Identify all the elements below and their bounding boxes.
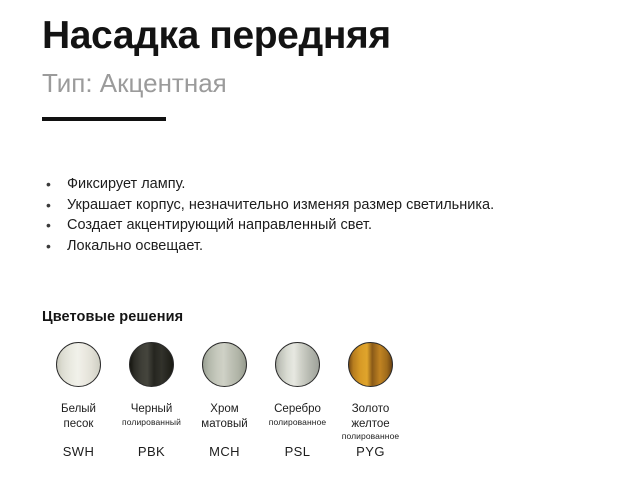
bullet-icon: • (42, 236, 67, 257)
list-item: • Локально освещает. (42, 236, 602, 257)
color-options-heading: Цветовые решения (42, 309, 602, 325)
color-name-modifier: полированное (342, 431, 400, 442)
feature-text: Локально освещает. (67, 236, 602, 257)
color-name-line1: Золото (342, 402, 400, 417)
color-disc-white-sand-icon[interactable] (56, 342, 101, 387)
feature-text: Создает акцентирующий направленный свет. (67, 215, 602, 236)
color-code-cell-psl: PSL (261, 443, 334, 461)
color-label-psl: Серебро полированное (269, 402, 327, 428)
color-name-line1: Серебро (269, 402, 327, 417)
color-label-pyg: Золото желтое полированное (342, 402, 400, 442)
color-swatch-pbk[interactable]: Черный полированный (115, 342, 188, 428)
color-options-section: Цветовые решения Белый песок Черный поли… (42, 309, 602, 442)
feature-text: Фиксирует лампу. (67, 174, 602, 195)
color-label-pbk: Черный полированный (122, 402, 181, 428)
page-title: Насадка передняя (42, 16, 602, 57)
color-code: PBK (138, 444, 165, 459)
color-name-line2: желтое (342, 417, 400, 432)
color-label-mch: Хром матовый (201, 402, 247, 431)
color-name-line2: матовый (201, 417, 247, 432)
color-swatch-psl[interactable]: Серебро полированное (261, 342, 334, 428)
color-code-cell-swh: SWH (42, 443, 115, 461)
list-item: • Фиксирует лампу. (42, 174, 602, 195)
page-subtitle: Тип: Акцентная (42, 69, 602, 98)
color-name-modifier: полированный (122, 417, 181, 428)
color-code: MCH (209, 444, 240, 459)
color-code-row: SWH PBK MCH PSL PYG (42, 443, 602, 461)
color-disc-silver-polished-icon[interactable] (275, 342, 320, 387)
bullet-icon: • (42, 174, 67, 195)
color-name-modifier: полированное (269, 417, 327, 428)
bullet-icon: • (42, 215, 67, 236)
color-swatch-mch[interactable]: Хром матовый (188, 342, 261, 431)
feature-text: Украшает корпус, незначительно изменяя р… (67, 195, 602, 216)
header: Насадка передняя Тип: Акцентная (42, 16, 602, 121)
list-item: • Украшает корпус, незначительно изменяя… (42, 195, 602, 216)
color-name-line1: Хром (201, 402, 247, 417)
color-swatch-row: Белый песок Черный полированный Хром мат… (42, 342, 602, 442)
color-name-line2: песок (61, 417, 96, 432)
feature-list: • Фиксирует лампу. • Украшает корпус, не… (42, 174, 602, 256)
color-disc-black-polished-icon[interactable] (129, 342, 174, 387)
color-name-line1: Черный (122, 402, 181, 417)
color-swatch-pyg[interactable]: Золото желтое полированное (334, 342, 407, 442)
color-disc-chrome-matte-icon[interactable] (202, 342, 247, 387)
color-code: SWH (63, 444, 95, 459)
color-swatch-swh[interactable]: Белый песок (42, 342, 115, 431)
color-name-line1: Белый (61, 402, 96, 417)
bullet-icon: • (42, 195, 67, 216)
color-code-cell-pbk: PBK (115, 443, 188, 461)
title-divider (42, 117, 166, 121)
product-spec-sheet: Насадка передняя Тип: Акцентная • Фиксир… (0, 0, 630, 490)
color-code-cell-mch: MCH (188, 443, 261, 461)
list-item: • Создает акцентирующий направленный све… (42, 215, 602, 236)
color-code: PSL (285, 444, 311, 459)
color-code-cell-pyg: PYG (334, 443, 407, 461)
color-disc-yellow-gold-polished-icon[interactable] (348, 342, 393, 387)
color-label-swh: Белый песок (61, 402, 96, 431)
color-code: PYG (356, 444, 385, 459)
